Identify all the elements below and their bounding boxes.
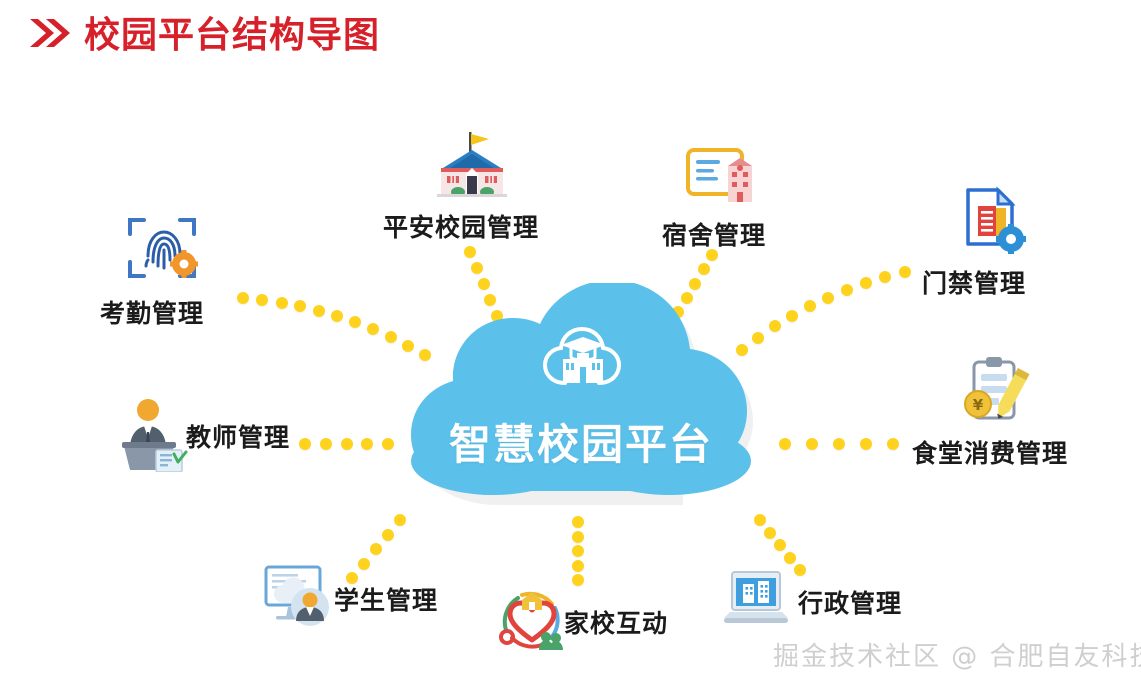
connector-dot — [464, 246, 476, 258]
school-building-flag-icon — [431, 130, 513, 205]
connector-dot — [879, 271, 891, 283]
node-dormitory-label: 宿舍管理 — [662, 216, 766, 252]
connector-dot — [774, 539, 786, 551]
card-building-icon — [682, 146, 754, 213]
node-teacher-label: 教师管理 — [186, 418, 290, 454]
connector-dot — [471, 262, 483, 274]
connector-dot — [361, 438, 373, 450]
connector-dot — [320, 438, 332, 450]
cloud-graduation-school-icon — [541, 323, 625, 394]
document-building-gear-icon — [954, 186, 1028, 263]
connector-dot — [349, 316, 361, 328]
node-student-label: 学生管理 — [334, 581, 438, 617]
connector-dot — [698, 263, 710, 275]
node-admin-label: 行政管理 — [798, 584, 902, 620]
connector-dot — [572, 531, 584, 543]
connector-dot — [822, 292, 834, 304]
node-home-school[interactable]: 家校互动 — [496, 582, 696, 672]
heart-house-family-icon — [496, 582, 568, 659]
monitor-cloud-user-icon — [262, 563, 338, 634]
connector-dot — [382, 529, 394, 541]
node-canteen[interactable]: ¥ 食堂消费管理 — [912, 356, 1141, 466]
watermark: 掘金技术社区 @ 合肥自友科技 — [773, 636, 1141, 673]
diagram-canvas: 校园平台结构导图 — [0, 0, 1141, 682]
center-cloud-node[interactable]: 智慧校园平台 — [381, 283, 781, 518]
node-safe-campus-label: 平安校园管理 — [383, 208, 539, 244]
connector-dot — [341, 438, 353, 450]
double-chevron-right-icon — [28, 16, 72, 55]
connector-dot — [572, 560, 584, 572]
connector-dot — [331, 310, 343, 322]
cloud-shape — [381, 283, 781, 518]
connector-dot — [860, 277, 872, 289]
fingerprint-scan-gear-icon — [124, 212, 200, 289]
connector-dot — [860, 438, 872, 450]
node-home-school-label: 家校互动 — [564, 604, 668, 640]
connector-dot — [764, 527, 776, 539]
connector-dot — [833, 438, 845, 450]
connector-dot — [370, 543, 382, 555]
node-attendance[interactable]: 考勤管理 — [100, 212, 330, 322]
connector-dot — [841, 284, 853, 296]
node-attendance-label: 考勤管理 — [100, 294, 204, 330]
connector-dot — [367, 323, 379, 335]
page-header: 校园平台结构导图 — [28, 16, 380, 55]
node-student[interactable]: 学生管理 — [262, 563, 472, 653]
page-title: 校园平台结构导图 — [84, 18, 380, 54]
svg-text:¥: ¥ — [973, 396, 984, 414]
connector-dot — [786, 310, 798, 322]
connector-dot — [899, 266, 911, 278]
connector-dot — [572, 545, 584, 557]
clipboard-pencil-coin-icon: ¥ — [954, 356, 1034, 431]
node-dormitory[interactable]: 宿舍管理 — [648, 146, 828, 246]
node-safe-campus[interactable]: 平安校园管理 — [383, 130, 613, 240]
connector-dot — [806, 438, 818, 450]
node-canteen-label: 食堂消费管理 — [912, 434, 1068, 470]
node-access[interactable]: 门禁管理 — [922, 186, 1112, 296]
connector-dot — [804, 300, 816, 312]
laptop-buildings-icon — [722, 568, 794, 635]
node-teacher[interactable]: 教师管理 — [118, 396, 318, 486]
connector-dot — [887, 438, 899, 450]
teacher-podium-icon — [118, 396, 188, 477]
connector-dot — [784, 552, 796, 564]
node-access-label: 门禁管理 — [922, 264, 1026, 300]
